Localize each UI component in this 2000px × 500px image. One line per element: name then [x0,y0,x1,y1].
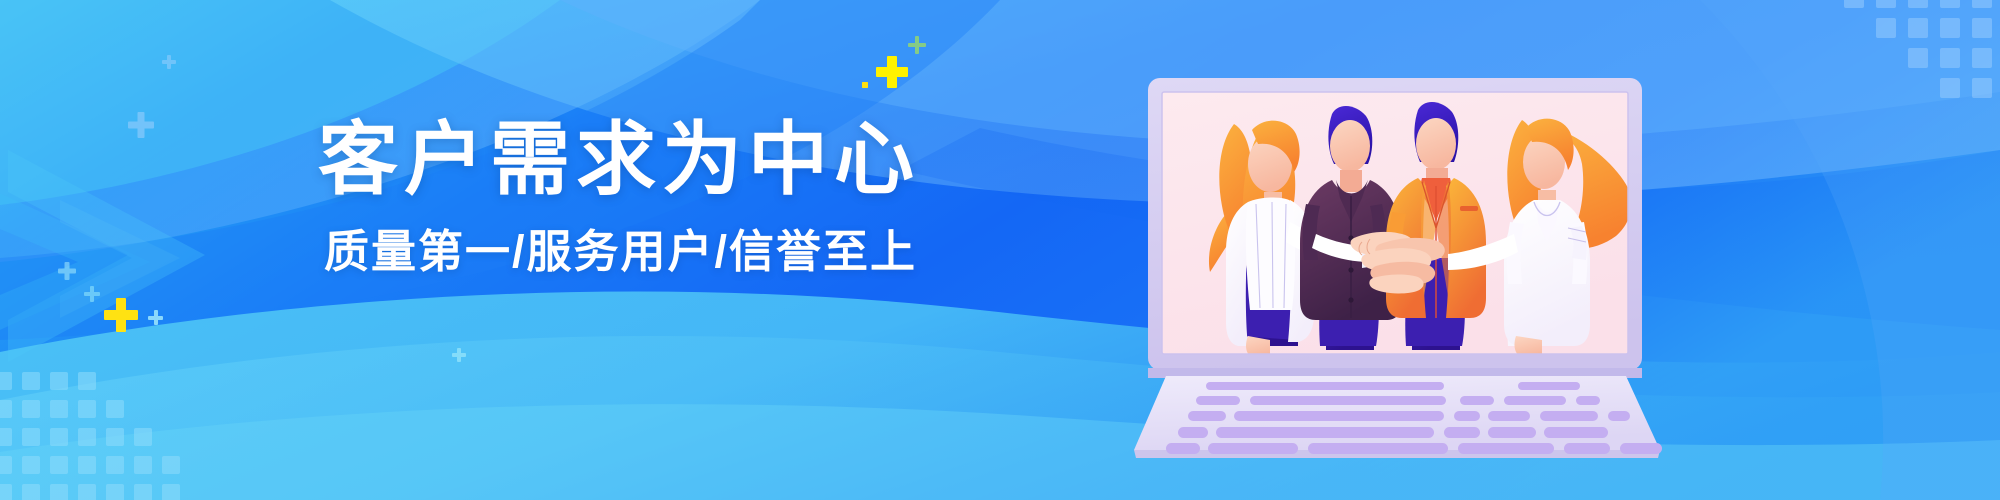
page-title: 客户需求为中心 [318,118,1078,201]
plus-yellow-large-bottom-left [104,298,138,332]
promotional-banner: 客户需求为中心 质量第一/服务用户/信誉至上 [0,0,2000,500]
plus-white-faint-upper-left [128,112,154,138]
plus-yellow-near-laptop [876,56,908,88]
plus-cyan-bottom-mid [452,348,466,362]
dot-grid-bottom-left [0,372,180,500]
plus-cyan-small-bottom-left [148,310,163,325]
dot-grid-top-right [1844,0,1992,98]
plus-yellow-dot-near-laptop [862,82,868,88]
laptop-with-team-handshake [1130,46,1660,466]
page-subtitle: 质量第一/服务用户/信誉至上 [324,227,1078,277]
plus-white-tiny-upper-left [162,55,176,69]
plus-cyan-small-left [84,286,100,302]
plus-green-near-laptop [908,36,926,54]
team-handshake-scene [1209,102,1632,358]
headline-block: 客户需求为中心 质量第一/服务用户/信誉至上 [318,118,1078,277]
plus-cyan-faint-bottom-left [58,262,76,280]
